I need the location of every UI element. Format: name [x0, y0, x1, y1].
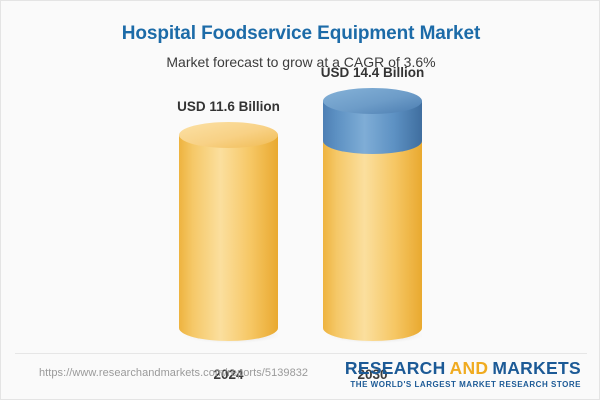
- bar-group-2030: USD 14.4 Billion: [323, 87, 422, 346]
- cylinder-bar-2030: [323, 87, 422, 346]
- cylinder-bar-2024: [179, 121, 278, 346]
- bar-group-2024: USD 11.6 Billion: [179, 121, 278, 346]
- bar-chart-plot-area: USD 11.6 Billion: [1, 81, 600, 346]
- research-and-markets-logo[interactable]: RESEARCHANDMARKETS THE WORLD'S LARGEST M…: [345, 359, 581, 390]
- cylinder-top-2024: [179, 122, 278, 148]
- value-label-2030: USD 14.4 Billion: [321, 65, 425, 80]
- infographic-canvas: Hospital Foodservice Equipment Market Ma…: [0, 0, 600, 400]
- page-subtitle: Market forecast to grow at a CAGR of 3.6…: [1, 54, 600, 70]
- logo-word-and: AND: [450, 358, 489, 378]
- footer-divider: [15, 353, 587, 354]
- logo-tagline: THE WORLD'S LARGEST MARKET RESEARCH STOR…: [345, 379, 581, 390]
- cylinder-body-2024: [179, 135, 278, 341]
- logo-wordmark: RESEARCHANDMARKETS: [345, 359, 581, 378]
- source-url[interactable]: https://www.researchandmarkets.com/repor…: [39, 367, 308, 379]
- page-title: Hospital Foodservice Equipment Market: [1, 23, 600, 45]
- cylinder-top-2030: [323, 88, 422, 114]
- cylinder-segment-base-2030: [323, 141, 422, 341]
- logo-word-markets: MARKETS: [492, 358, 581, 378]
- value-label-2024: USD 11.6 Billion: [177, 99, 280, 114]
- logo-word-research: RESEARCH: [345, 358, 446, 378]
